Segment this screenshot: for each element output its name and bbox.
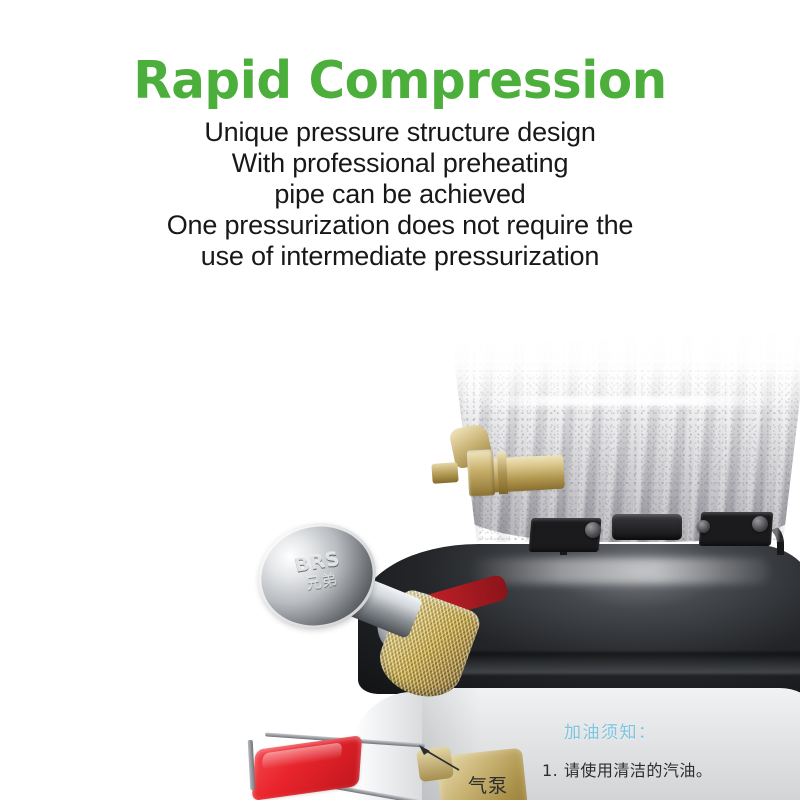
body-line-5: use of intermediate pressurization <box>0 241 800 272</box>
page-title: Rapid Compression <box>16 0 784 110</box>
body-line-4: One pressurization does not require the <box>0 210 800 241</box>
body-line-1: Unique pressure structure design <box>0 117 800 148</box>
pump-callout-arrow-icon <box>415 744 461 772</box>
product-photo: BRS 兄弟 <box>0 300 800 800</box>
burner-center-nut <box>612 514 682 540</box>
bracket-screw-left <box>585 522 601 538</box>
tank-label-line-1: 1. 请使用清洁的汽油。 <box>542 757 712 781</box>
product-marketing-image: Rapid Compression Unique pressure struct… <box>0 0 800 800</box>
bracket-screw-mid <box>697 520 710 533</box>
brass-hex-nut <box>467 449 495 496</box>
tank-highlight <box>470 558 770 584</box>
tank-label-title: 加油须知： <box>564 718 657 743</box>
brass-pipe-end <box>431 462 458 484</box>
bracket-screw-right <box>752 516 768 532</box>
burner-top-fade <box>440 322 800 412</box>
pump-callout-label: 气泵 <box>468 771 508 798</box>
body-line-2: With professional preheating <box>0 148 800 179</box>
body-line-3: pipe can be achieved <box>0 179 800 210</box>
marketing-text-block: Rapid Compression Unique pressure struct… <box>0 0 800 272</box>
